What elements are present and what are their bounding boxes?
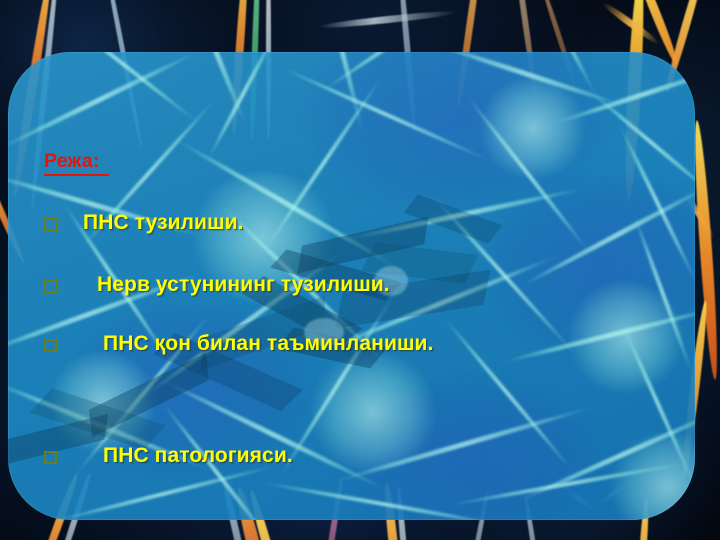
list-item: ПНС қон билан таъминланиши. (44, 333, 434, 354)
hollow-square-bullet-icon (44, 339, 57, 352)
list-item: ПНС тузилиши. (44, 212, 244, 233)
presentation-slide: Режа: ПНС тузилиши. Нерв устунининг тузи… (0, 0, 720, 540)
list-item-label: ПНС патологияси. (103, 445, 293, 466)
list-item-label: Нерв устунининг тузилиши. (97, 274, 390, 295)
list-item: ПНС патологияси. (44, 445, 293, 466)
hollow-square-bullet-icon (44, 451, 57, 464)
hollow-square-bullet-icon (44, 218, 57, 231)
list-item: Нерв устунининг тузилиши. (44, 274, 390, 295)
hollow-square-bullet-icon (44, 280, 57, 293)
page-title: Режа: (44, 150, 109, 176)
list-item-label: ПНС тузилиши. (83, 212, 244, 233)
list-item-label: ПНС қон билан таъминланиши. (103, 333, 434, 354)
slide-text-content: Режа: ПНС тузилиши. Нерв устунининг тузи… (0, 0, 720, 540)
